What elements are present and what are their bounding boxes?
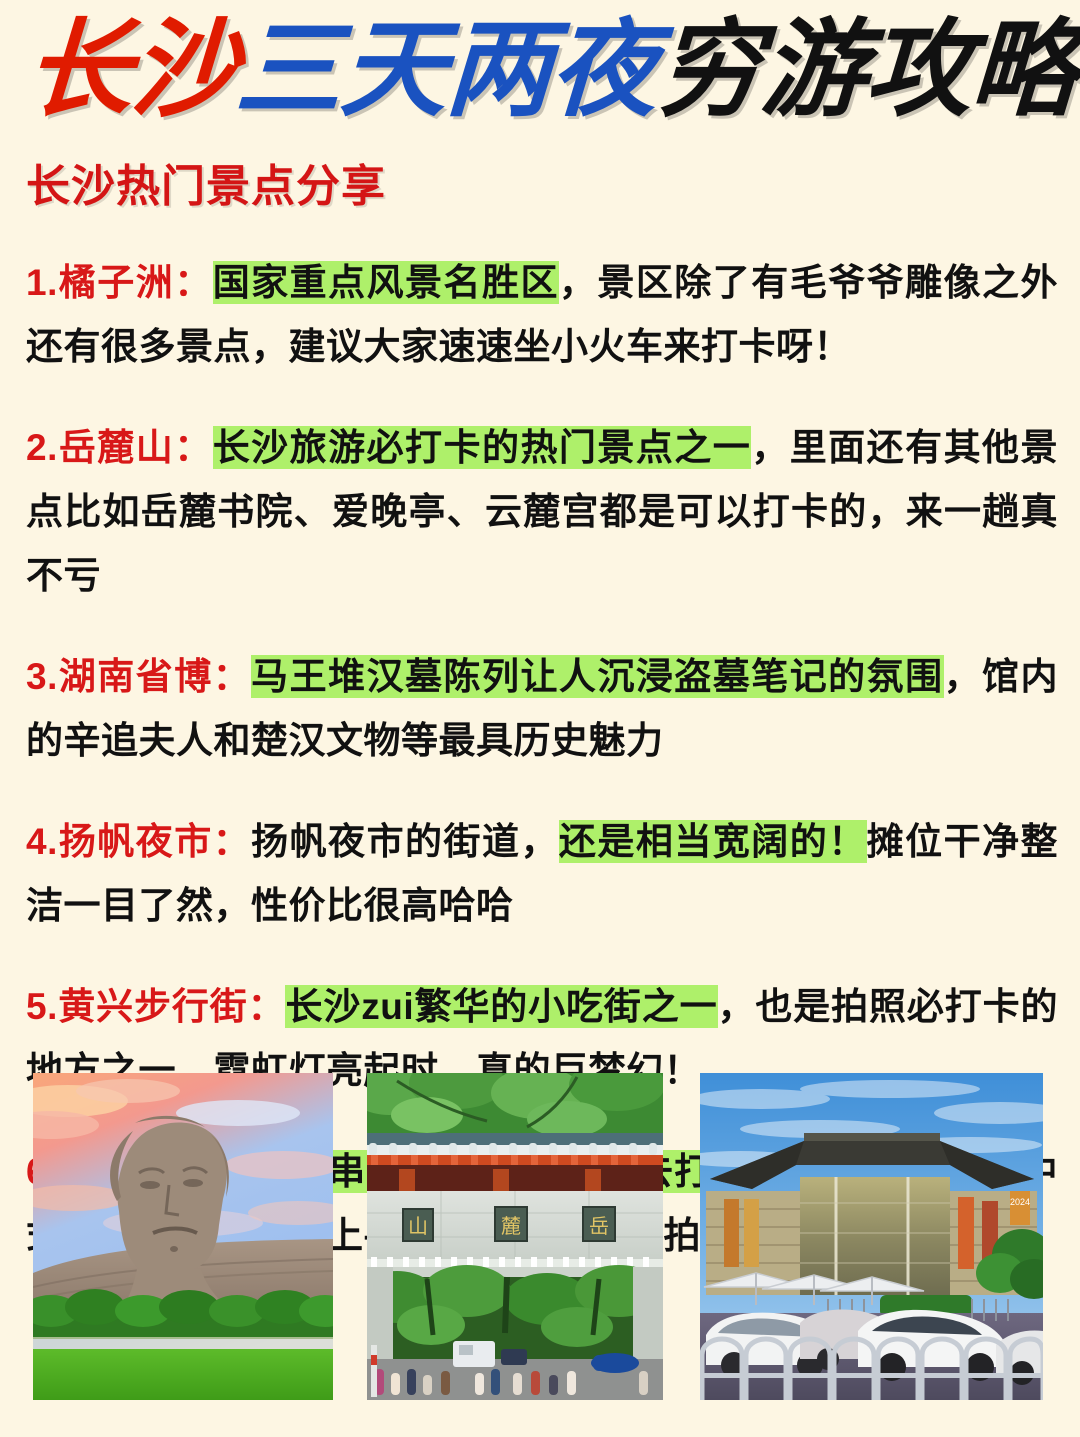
yuelu-gate-illustration: 山 麓 岳: [367, 1073, 663, 1400]
svg-text:山: 山: [408, 1215, 428, 1238]
list-item-highlight: 还是相当宽阔的！: [559, 820, 867, 863]
orange-isle-illustration: [33, 1073, 333, 1400]
svg-text:2024: 2024: [1010, 1197, 1030, 1207]
list-item-label: 2.岳麓山：: [26, 427, 213, 468]
list-item-highlight: 长沙旅游必打卡的热门景点之一: [213, 426, 752, 469]
orange-isle-mao-statue-photo[interactable]: [33, 1073, 333, 1400]
section-heading: 长沙热门景点分享: [26, 150, 1054, 214]
page-title-part-blue: 三天两夜: [233, 12, 659, 129]
list-item-highlight: 国家重点风景名胜区: [213, 261, 559, 304]
svg-text:岳: 岳: [589, 1215, 609, 1238]
list-item-label: 4.扬帆夜市：: [26, 821, 251, 862]
page-title: 长沙三天两夜穷游攻略: [23, 14, 1057, 128]
page-title-part-black: 穷游攻略: [653, 12, 1079, 129]
list-item: 4.扬帆夜市：扬帆夜市的街道，还是相当宽阔的！摊位干净整洁一目了然，性价比很高哈…: [26, 810, 1058, 938]
list-item-highlight: 马王堆汉墓陈列让人沉浸盗墓笔记的氛围: [251, 655, 943, 698]
svg-text:麓: 麓: [501, 1215, 521, 1238]
photo-strip: 山 麓 岳: [0, 1073, 1080, 1403]
list-item: 3.湖南省博：马王堆汉墓陈列让人沉浸盗墓笔记的氛围，馆内的辛追夫人和楚汉文物等最…: [26, 645, 1058, 773]
list-item-pretext: 扬帆夜市的街道，: [251, 821, 559, 862]
list-item: 1.橘子洲：国家重点风景名胜区，景区除了有毛爷爷雕像之外还有很多景点，建议大家速…: [26, 251, 1058, 379]
list-item-highlight: 长沙zui繁华的小吃街之一: [285, 985, 717, 1028]
list-item-label: 5.黄兴步行街：: [26, 986, 285, 1027]
hunan-museum-illustration: 2024: [700, 1073, 1043, 1400]
yuelu-mountain-gate-photo[interactable]: 山 麓 岳: [367, 1073, 663, 1400]
page-title-part-red: 长沙: [23, 12, 239, 129]
list-item: 2.岳麓山：长沙旅游必打卡的热门景点之一，里面还有其他景点比如岳麓书院、爱晚亭、…: [26, 416, 1058, 608]
list-item-label: 3.湖南省博：: [26, 656, 251, 697]
hunan-museum-photo[interactable]: 2024: [700, 1073, 1043, 1400]
poster-page: 长沙三天两夜穷游攻略 长沙热门景点分享 1.橘子洲：国家重点风景名胜区，景区除了…: [0, 0, 1080, 1437]
header-block: 长沙三天两夜穷游攻略 长沙热门景点分享: [0, 0, 1080, 214]
list-item-label: 1.橘子洲：: [26, 262, 213, 303]
